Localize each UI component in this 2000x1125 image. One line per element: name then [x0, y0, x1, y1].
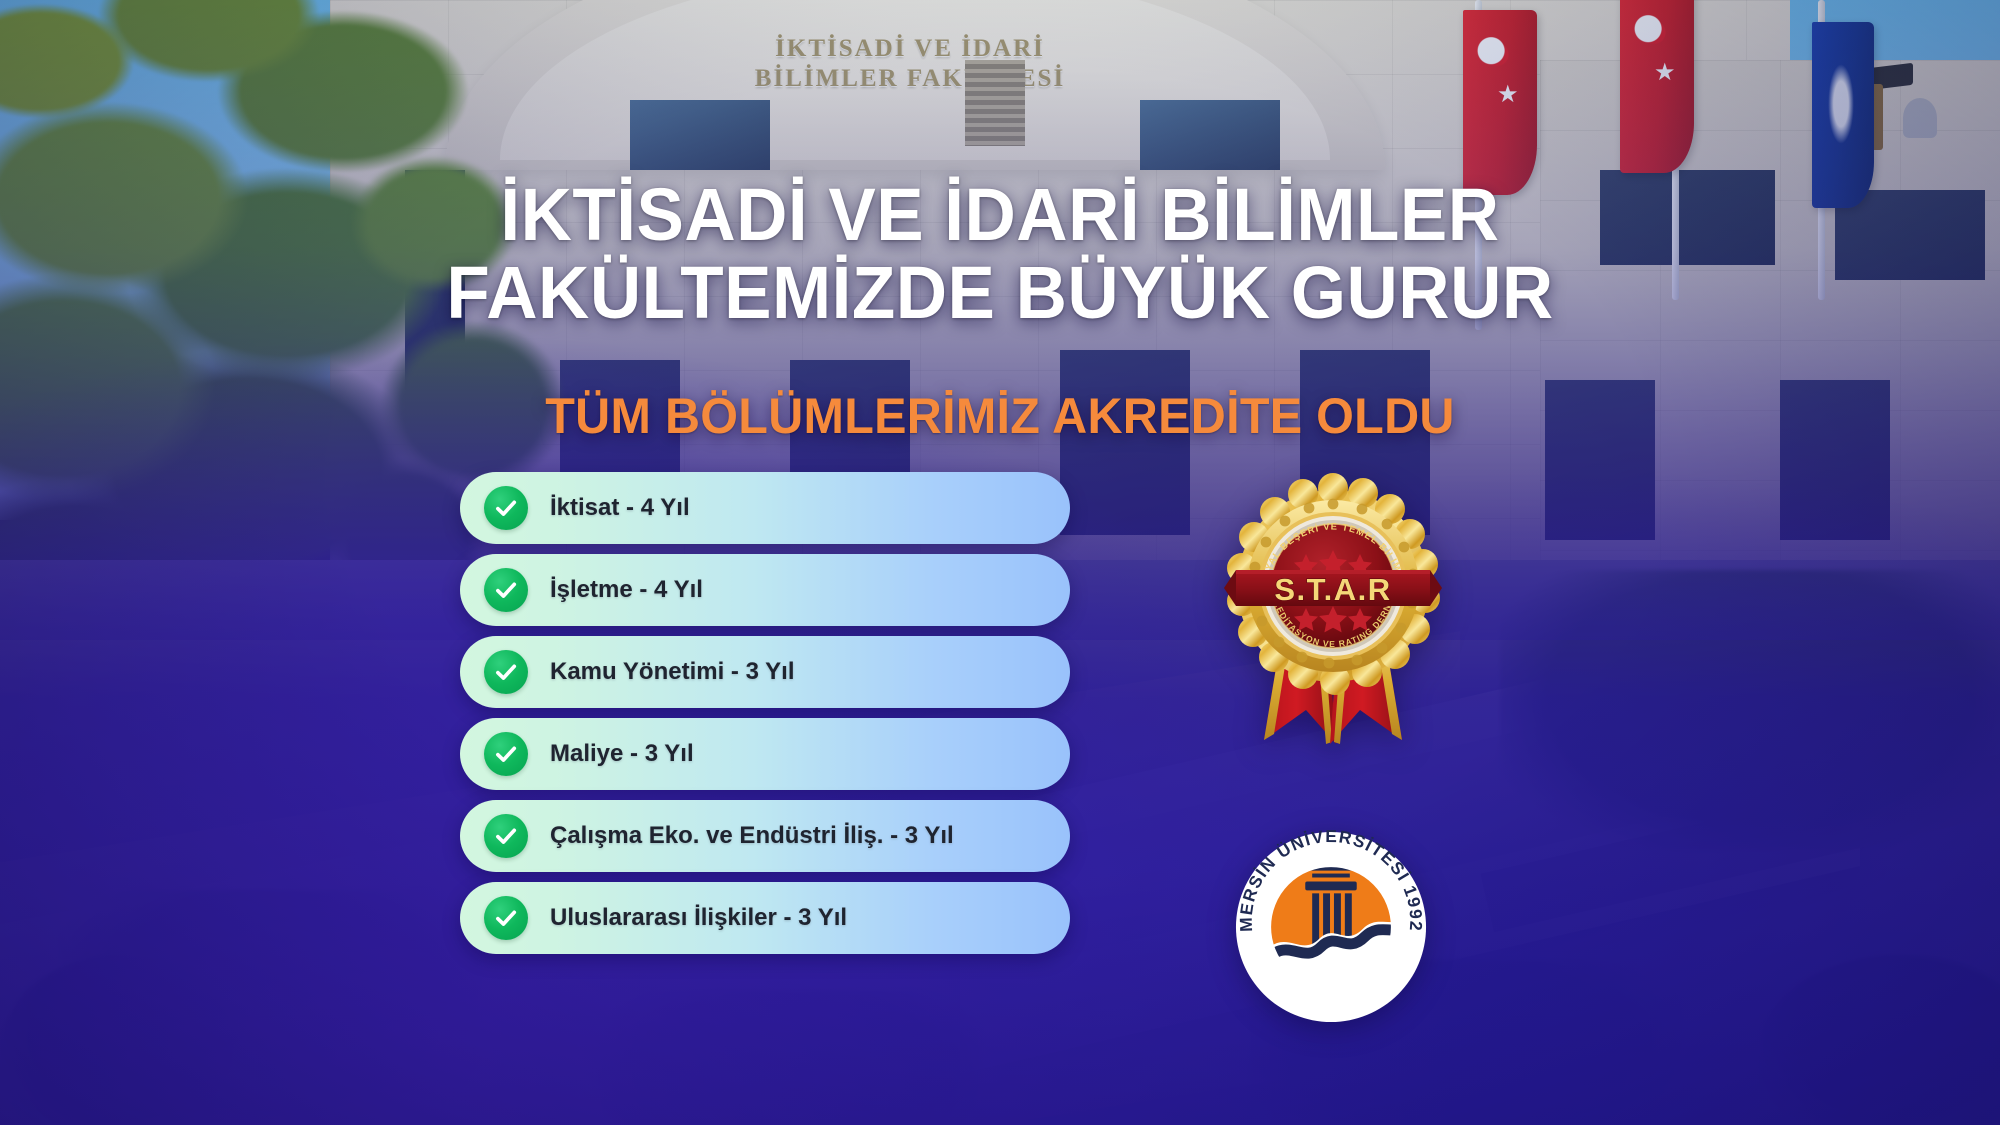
star-accreditation-badge: SOSYAL BEŞERİ VE TEMEL BİLİMLER AKREDİTA…	[1218, 458, 1448, 758]
check-circle-icon	[484, 568, 528, 612]
program-item-kamu-yonetimi[interactable]: Kamu Yönetimi - 3 Yıl	[460, 636, 1070, 708]
check-circle-icon	[484, 732, 528, 776]
badge-center-text: S.T.A.R	[1274, 572, 1391, 607]
program-label: Maliye - 3 Yıl	[550, 740, 694, 768]
program-item-iktisat[interactable]: İktisat - 4 Yıl	[460, 472, 1070, 544]
badge-banner: S.T.A.R	[1224, 570, 1442, 607]
program-item-maliye[interactable]: Maliye - 3 Yıl	[460, 718, 1070, 790]
program-label: Uluslararası İlişkiler - 3 Yıl	[550, 904, 847, 932]
headline-line-1: İKTİSADİ VE İDARİ BİLİMLER	[500, 173, 1499, 256]
check-circle-icon	[484, 814, 528, 858]
check-circle-icon	[484, 650, 528, 694]
program-label: Çalışma Eko. ve Endüstri İliş. - 3 Yıl	[550, 822, 954, 850]
program-item-calisma-ekonomisi[interactable]: Çalışma Eko. ve Endüstri İliş. - 3 Yıl	[460, 800, 1070, 872]
subtitle: TÜM BÖLÜMLERİMİZ AKREDİTE OLDU	[30, 387, 1970, 445]
program-label: İşletme - 4 Yıl	[550, 576, 703, 604]
poster-content: İKTİSADİ VE İDARİ BİLİMLER FAKÜLTEMİZDE …	[0, 0, 2000, 1125]
program-item-uluslararasi-iliskiler[interactable]: Uluslararası İlişkiler - 3 Yıl	[460, 882, 1070, 954]
check-circle-icon	[484, 896, 528, 940]
page-title: İKTİSADİ VE İDARİ BİLİMLER FAKÜLTEMİZDE …	[40, 176, 1960, 333]
poster-stage: İKTİSADİ VE İDARİ BİLİMLER FAKÜLTESİ ★ ★	[0, 0, 2000, 1125]
program-item-isletme[interactable]: İşletme - 4 Yıl	[460, 554, 1070, 626]
university-logo: MERSİN ÜNİVERSİTESİ 1992	[1232, 828, 1430, 1026]
headline-line-2: FAKÜLTEMİZDE BÜYÜK GURUR	[40, 254, 1960, 332]
program-list: İktisat - 4 Yılİşletme - 4 YılKamu Yönet…	[460, 472, 1070, 954]
program-label: Kamu Yönetimi - 3 Yıl	[550, 658, 795, 686]
check-circle-icon	[484, 486, 528, 530]
program-label: İktisat - 4 Yıl	[550, 494, 690, 522]
